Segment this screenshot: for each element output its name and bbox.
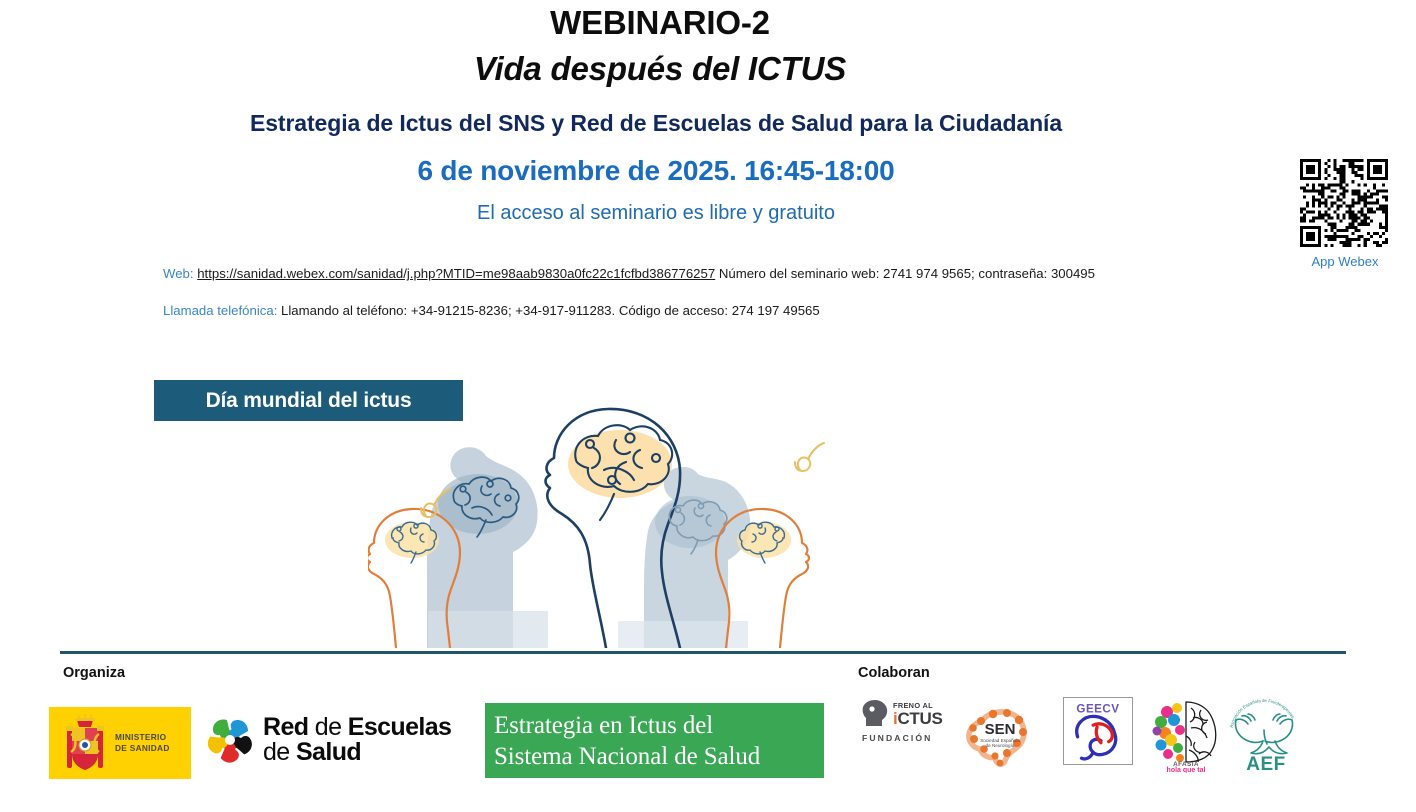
poster-title-line1: WEBINARIO-2 [0,4,1320,42]
heads-brains-illustration [368,396,848,648]
svg-text:AEF: AEF [1246,754,1286,774]
logo-ministerio-de-sanidad: MINISTERIO DE SANIDAD [49,707,191,779]
afasia-split-brain-icon: AFASIA hola que tal [1147,698,1225,773]
poster-free-access-note: El acceso al seminario es libre y gratui… [0,202,1312,225]
logo-aef: Asociación Española de Fisioterapeutas A… [1222,694,1306,774]
svg-text:hola que tal: hola que tal [1167,767,1206,773]
red-escuelas-text-block: Red de Escuelas de Salud [263,715,451,765]
poster-datetime: 6 de noviembre de 2025. 16:45-18:00 [0,155,1312,187]
afasia-colored-half [1153,702,1186,762]
logo-geecv: GEECV [1063,697,1133,765]
sen-brain-dots-icon: SEN Sociedad Española de Neurología [962,701,1038,767]
footer-divider [60,651,1346,654]
de-word-2: de [263,738,296,766]
logo-freno-al-ictus: FRENO AL iCTUS FUNDACIÓN [862,700,956,762]
de-word: de [308,713,347,741]
webex-url-link[interactable]: https://sanidad.webex.com/sanidad/j.php?… [197,266,715,281]
estrategia-line2: Sistema Nacional de Salud [485,741,824,772]
organiza-label: Organiza [63,665,125,681]
estrategia-line1: Estrategia en Ictus del [485,710,824,741]
phone-info: Llamando al teléfono: +34-91215-8236; +3… [281,303,820,318]
red-escuelas-line1: Red de Escuelas [263,715,451,740]
red-word: Red [263,713,308,741]
svg-text:GEECV: GEECV [1076,703,1119,716]
logo-estrategia-ictus-sns: Estrategia en Ictus del Sistema Nacional… [485,703,824,778]
svg-text:de Neurología: de Neurología [986,743,1015,748]
aef-hands-shape [1235,714,1292,754]
phone-access-line: Llamada telefónica: Llamando al teléfono… [163,303,820,318]
geecv-emblem-icon: GEECV [1064,698,1132,764]
afasia-line-half [1186,702,1216,762]
freno-fundacion-label: FUNDACIÓN [862,733,956,743]
colaboran-label: Colaboran [858,665,930,681]
web-label: Web: [163,266,194,281]
escuelas-word: Escuelas [348,713,452,741]
qr-code-block[interactable]: App Webex [1300,159,1390,269]
aef-curved-text: Asociación Española de Fisioterapeutas [1229,698,1296,728]
ministerio-text-block: MINISTERIO DE SANIDAD [115,732,170,754]
web-access-line: Web: https://sanidad.webex.com/sanidad/j… [163,266,1095,281]
qr-code-label: App Webex [1300,254,1390,269]
red-escuelas-line2: de Salud [263,740,451,765]
freno-text-block: FRENO AL iCTUS [893,701,943,728]
phone-label: Llamada telefónica: [163,303,277,318]
freno-line2: iCTUS [893,710,943,728]
logo-afasia-hola-que-tal: AFASIA hola que tal [1147,698,1225,773]
freno-ctus: CTUS [897,709,942,728]
aef-hands-bird-icon: Asociación Española de Fisioterapeutas A… [1222,694,1306,774]
spain-coat-of-arms-icon [63,712,107,774]
logo-red-de-escuelas-de-salud: Red de Escuelas de Salud [206,706,474,774]
poster-title-line2: Vida después del ICTUS [0,50,1320,88]
pinwheel-hands-icon [206,716,254,764]
svg-text:SEN: SEN [985,721,1016,738]
ministerio-line2: DE SANIDAD [115,743,170,754]
freno-top-row: FRENO AL iCTUS [862,700,956,728]
salud-word: Salud [296,738,361,766]
web-meeting-info: Número del seminario web: 2741 974 9565;… [719,266,1095,281]
qr-code-image[interactable] [1300,159,1388,247]
logo-sen-sociedad-espanola-neurologia: SEN Sociedad Española de Neurología [962,701,1038,767]
poster-root: WEBINARIO-2 Vida después del ICTUS Estra… [0,0,1416,812]
head-profile-icon [862,700,890,728]
ministerio-line1: MINISTERIO [115,732,170,743]
poster-subtitle: Estrategia de Ictus del SNS y Red de Esc… [0,110,1312,137]
